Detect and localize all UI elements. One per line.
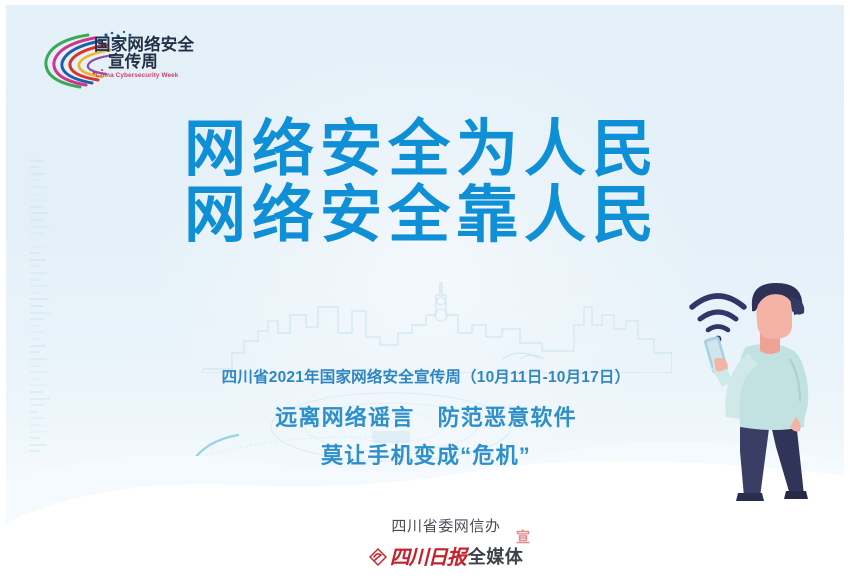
leg-front [740, 421, 770, 497]
data-strip-dash [30, 212, 49, 214]
data-strip-dash [30, 285, 48, 287]
data-strip-dash [30, 246, 45, 248]
logo-text-block: 国家网络安全 宣传周 China Cybersecurity Week [94, 37, 186, 79]
footer: 四川省委网信办 四川日报 全媒体 [306, 515, 586, 570]
data-strip-dash [30, 371, 48, 373]
footer-paper-row: 四川日报 全媒体 [306, 541, 586, 570]
sichuan-daily-seal-icon [369, 548, 387, 566]
data-strip-dash [30, 358, 47, 360]
data-strip-dash [30, 338, 39, 340]
data-strip-dash [30, 226, 50, 228]
data-strip-dash [30, 305, 43, 307]
data-strip-dash [30, 272, 47, 274]
data-strip-dash [30, 265, 40, 267]
footer-organization: 四川省委网信办 [306, 515, 586, 536]
logo-english: China Cybersecurity Week [94, 73, 186, 80]
city-skyline-icon [202, 281, 672, 373]
data-strip-dash [30, 252, 39, 254]
wifi-icon [692, 296, 744, 330]
headline-line-2: 网络安全靠人民 [184, 183, 694, 249]
data-strip-dash [30, 259, 46, 261]
logo-line2: 宣传周 [94, 54, 186, 71]
data-strip-dash [30, 199, 48, 201]
data-strip-dash [30, 179, 40, 181]
data-strip-dash [30, 219, 43, 221]
data-strip-dash [30, 325, 38, 327]
subtitle-line-1: 远离网络谣言 防范恶意软件 [166, 400, 686, 432]
data-strip-dash [30, 153, 38, 155]
data-strip-dash [30, 351, 40, 353]
logo-line1: 国家网络安全 [94, 37, 186, 54]
data-strip-dash [30, 186, 47, 188]
data-strip-dash [30, 279, 41, 281]
person-illustration [678, 281, 844, 513]
data-strip-dash [30, 166, 39, 168]
data-strip-dash [30, 365, 41, 367]
shoe-back [784, 491, 808, 499]
data-strip-dash [30, 318, 44, 320]
headline-line-1: 网络安全为人民 [184, 117, 694, 183]
data-strip-dash [30, 206, 42, 208]
leg-back [770, 421, 804, 495]
poster-artboard: 国家网络安全 宣传周 China Cybersecurity Week 网络安全… [6, 5, 844, 575]
data-strip-dash [30, 298, 49, 300]
data-strip-dash [30, 292, 42, 294]
poster-root: 国家网络安全 宣传周 China Cybersecurity Week 网络安全… [0, 0, 850, 580]
footer-xuan-mark: 宣 [516, 527, 530, 547]
data-strip-dash [30, 331, 45, 333]
data-strip-dash [30, 239, 38, 241]
headline: 网络安全为人民 网络安全靠人民 [184, 117, 694, 248]
subtitle-line-2: 莫让手机变成“危机” [166, 438, 686, 470]
data-strip-dash [30, 160, 45, 162]
data-strip-dash [30, 345, 46, 347]
subtitle-block: 四川省2021年国家网络安全宣传周（10月11日-10月17日） 远离网络谣言 … [166, 365, 686, 470]
shoe-front [736, 493, 764, 501]
footer-media-name: 全媒体 [468, 543, 524, 569]
data-strip-dash [30, 173, 46, 175]
data-strip-dash [30, 312, 50, 314]
data-strip-dash [30, 193, 41, 195]
data-strip-dash [30, 232, 44, 234]
hair-side [790, 297, 804, 315]
logo: 国家网络安全 宣传周 China Cybersecurity Week [36, 29, 186, 93]
data-strip-dash [30, 378, 42, 380]
footer-paper-name: 四川日报 [390, 541, 466, 570]
subtitle-date: 四川省2021年国家网络安全宣传周（10月11日-10月17日） [166, 365, 686, 387]
